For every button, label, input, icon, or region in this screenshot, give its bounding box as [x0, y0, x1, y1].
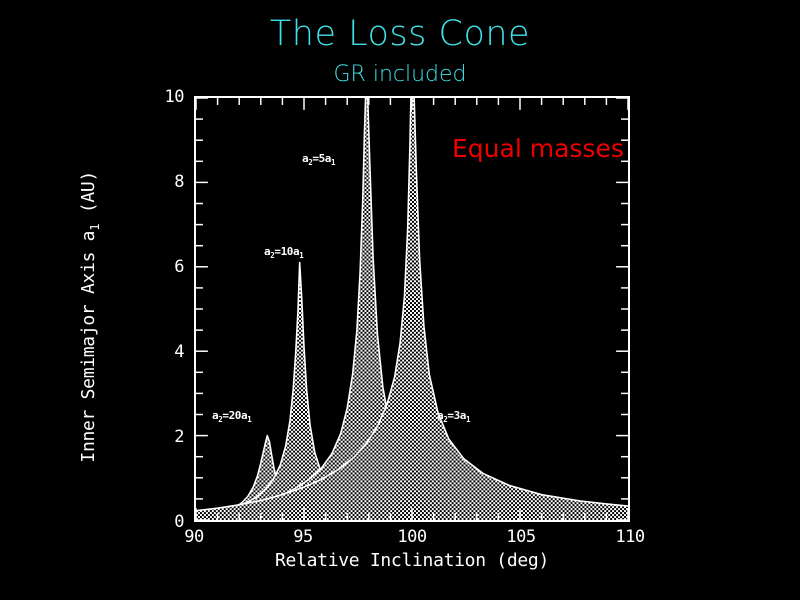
equal-masses-annotation: Equal masses	[452, 134, 624, 163]
curve-label-sub: 1	[299, 251, 303, 260]
y-axis-title-sub: 1	[88, 224, 102, 231]
y-axis-title-pre: Inner Semimajor Axis a	[78, 231, 99, 463]
curve-label-text: =3a	[447, 409, 466, 422]
curve-label-text: =20a	[222, 409, 247, 422]
xtick-label: 90	[184, 527, 203, 547]
xtick-label: 110	[615, 527, 644, 547]
ytick-label: 8	[150, 172, 184, 192]
xtick-label: 100	[397, 527, 426, 547]
slide-title: The Loss Cone	[0, 16, 800, 53]
slide-canvas: The Loss Cone GR included 90 95 100 105 …	[0, 0, 800, 600]
curve-label-3a1: a2=3a1	[437, 409, 470, 424]
ytick-label: 4	[150, 342, 184, 362]
slide-subtitle: GR included	[0, 62, 800, 87]
curve-label-10a1: a2=10a1	[264, 245, 303, 260]
curve-label-sub: 1	[466, 415, 470, 424]
xtick-label: 105	[506, 527, 535, 547]
xtick-label: 95	[293, 527, 312, 547]
ytick-label: 10	[150, 87, 184, 107]
curve-label-sub: 1	[247, 415, 251, 424]
y-axis-title-post: (AU)	[78, 171, 99, 224]
y-axis-title: Inner Semimajor Axis a1 (AU)	[78, 167, 102, 467]
curve-label-sub: 1	[331, 158, 335, 167]
curve-label-20a1: a2=20a1	[212, 409, 251, 424]
curve-label-5a1: a2=5a1	[302, 152, 335, 167]
curve-label-text: =5a	[312, 152, 331, 165]
x-axis-title: Relative Inclination (deg)	[194, 550, 630, 571]
ytick-label: 6	[150, 257, 184, 277]
ytick-label: 0	[150, 512, 184, 532]
ytick-label: 2	[150, 427, 184, 447]
curve-label-text: =10a	[274, 245, 299, 258]
